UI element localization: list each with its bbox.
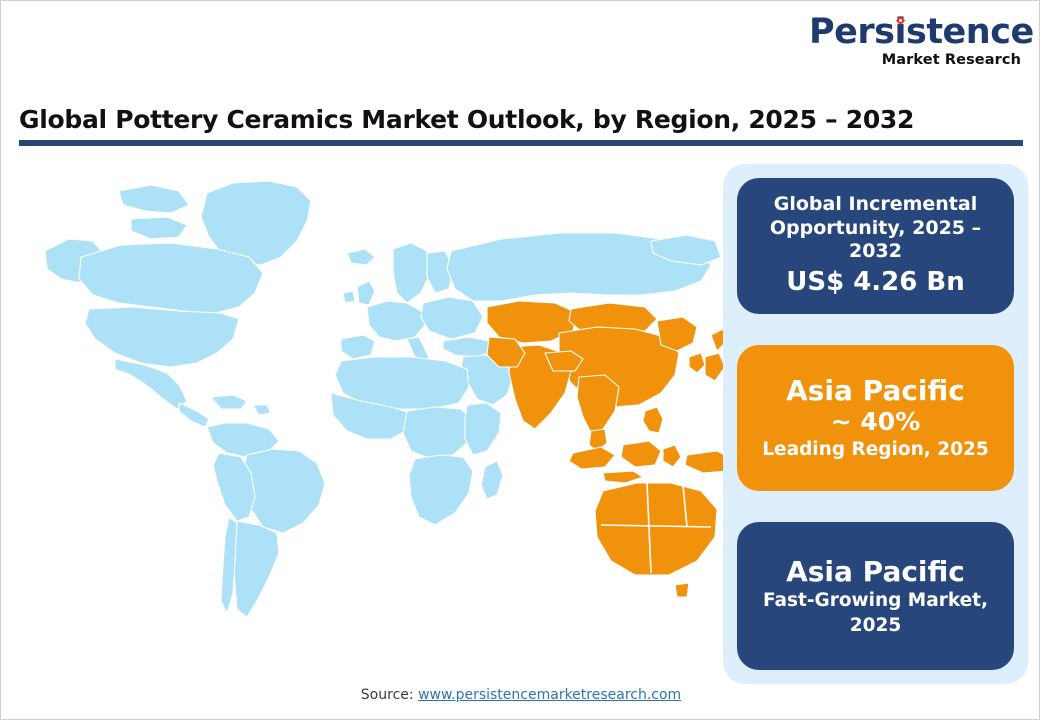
logo-subtitle: Market Research: [809, 53, 1021, 68]
map-highlighted-region-asia-pacific: [487, 301, 731, 597]
region-korea: [689, 353, 705, 373]
region-iberia: [341, 335, 375, 359]
region-ireland: [343, 291, 355, 303]
logo-wordmark: Persistence: [809, 15, 1034, 50]
gear-icon: [896, 16, 905, 25]
infographic-canvas: Persistence Market Research Global Potte…: [0, 0, 1040, 720]
region-brazil: [243, 449, 325, 533]
region-madagascar: [481, 461, 503, 499]
region-japan-2: [705, 353, 725, 381]
leading-region-caption: Leading Region, 2025: [762, 439, 988, 461]
leading-region-share: ~ 40%: [831, 407, 921, 437]
region-australia: [595, 483, 717, 575]
region-northeast-asia: [657, 317, 697, 351]
region-british-isles: [357, 281, 375, 305]
leading-region-name: Asia Pacific: [786, 374, 965, 407]
region-caribbean-2: [253, 405, 271, 415]
region-canada-arctic-2: [131, 217, 187, 239]
region-sulawesi: [663, 445, 681, 467]
card-incremental-opportunity[interactable]: Global Incremental Opportunity, 2025 – 2…: [737, 178, 1014, 314]
region-java: [603, 471, 643, 483]
region-east-africa: [465, 403, 501, 455]
region-southern-south-america: [233, 521, 279, 617]
region-central-africa: [403, 407, 473, 459]
region-united-states: [85, 307, 239, 367]
incremental-opportunity-value: US$ 4.26 Bn: [786, 266, 965, 299]
region-borneo: [621, 441, 661, 467]
region-scandinavia: [393, 243, 431, 303]
incremental-opportunity-line1: Global Incremental: [774, 193, 977, 216]
region-eastern-europe: [421, 297, 483, 339]
region-southern-africa: [409, 455, 473, 525]
source-footer: Source: www.persistencemarketresearch.co…: [1, 687, 1040, 703]
fast-growing-line1: Fast-Growing Market,: [763, 590, 988, 612]
title-divider: [19, 140, 1023, 146]
source-label: Source:: [361, 687, 418, 703]
source-link[interactable]: www.persistencemarketresearch.com: [418, 687, 681, 703]
brand-logo: Persistence Market Research: [809, 15, 1021, 68]
region-chile-strip: [221, 517, 237, 613]
page-title-block: Global Pottery Ceramics Market Outlook, …: [19, 105, 1023, 146]
world-map-svg: [11, 161, 731, 671]
region-sumatra: [569, 447, 615, 469]
region-tasmania: [675, 583, 689, 597]
incremental-opportunity-line2: Opportunity, 2025 – 2032: [747, 217, 1004, 263]
card-leading-region[interactable]: Asia Pacific ~ 40% Leading Region, 2025: [737, 345, 1014, 491]
fast-growing-region-name: Asia Pacific: [786, 555, 965, 588]
region-turkey: [443, 337, 493, 357]
region-caribbean: [211, 395, 247, 409]
page-title: Global Pottery Ceramics Market Outlook, …: [19, 105, 1023, 134]
stats-panel: Global Incremental Opportunity, 2025 – 2…: [723, 164, 1028, 684]
region-central-america: [179, 403, 209, 427]
region-canada-arctic: [119, 185, 189, 213]
world-map: [11, 161, 731, 671]
fast-growing-line2: 2025: [850, 615, 902, 637]
region-iceland: [347, 249, 375, 265]
region-western-europe: [367, 301, 425, 341]
region-canada: [79, 243, 263, 313]
region-philippines: [643, 407, 663, 433]
card-fast-growing-market[interactable]: Asia Pacific Fast-Growing Market, 2025: [737, 522, 1014, 670]
logo-wordmark-text: Persistence: [809, 12, 1034, 52]
region-indochina: [577, 375, 619, 433]
